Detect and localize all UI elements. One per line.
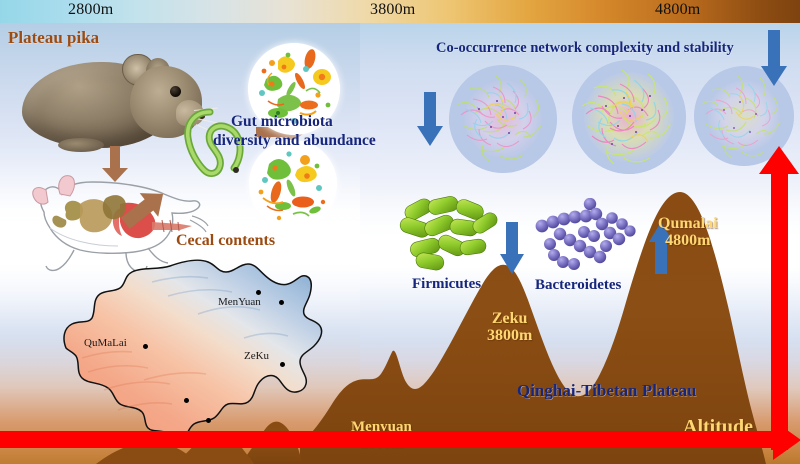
firmicutes-label: Firmicutes xyxy=(412,276,481,293)
altitude-axis-horizontal-arrow xyxy=(0,431,775,448)
network-circle-1 xyxy=(449,65,557,173)
map-dot-qumalai xyxy=(143,344,148,349)
network-circle-2 xyxy=(572,60,686,174)
gut-microbiota-label-line1: Gut microbiota xyxy=(231,113,333,131)
network-graph-icon xyxy=(449,65,557,173)
plateau-name-label: Qinghai-Tibetan Plateau xyxy=(517,381,697,401)
pika-eye xyxy=(170,86,181,97)
map-shape xyxy=(48,252,348,448)
gut-microbiota-circle-bottom xyxy=(249,140,337,228)
peak-elev-qumalai: 4800m xyxy=(665,232,710,249)
co-occurrence-title: Co-occurrence network complexity and sta… xyxy=(436,40,734,57)
map-label-zeku: ZeKu xyxy=(244,350,269,362)
peak-label-zeku: Zeku 3800m xyxy=(487,311,532,345)
microbe-cluster-icon xyxy=(249,140,337,228)
map-dot-south-1 xyxy=(184,398,189,403)
map-dot-menyuan-north xyxy=(256,290,261,295)
arrow-anatomy-to-cecum-icon xyxy=(118,186,172,230)
bacteroidetes-label: Bacteroidetes xyxy=(535,277,621,294)
peak-label-qumalai: Qumalai 4800m xyxy=(658,216,718,250)
peak-name-zeku: Zeku xyxy=(492,310,528,327)
peak-elev-zeku: 3800m xyxy=(487,327,532,344)
qinghai-province-map: QuMaLai MenYuan ZeKu xyxy=(48,252,348,448)
cecal-contents-label: Cecal contents xyxy=(176,232,275,250)
altitude-axis-vertical-arrow xyxy=(771,172,788,450)
pika-foot xyxy=(58,138,104,152)
gut-microbiota-label-line2: diversity and abundance xyxy=(213,132,376,150)
graphical-abstract: 2800m 3800m 4800m Plateau pika xyxy=(0,0,800,464)
arrow-network-decrease-icon xyxy=(760,30,788,86)
arrow-firmicutes-decrease-icon xyxy=(499,222,525,274)
arrow-gut-microbiota-decrease-icon xyxy=(416,92,444,146)
map-label-menyuan: MenYuan xyxy=(218,296,261,308)
peak-name-qumalai: Qumalai xyxy=(658,215,718,232)
bacteroidetes-cluster-icon xyxy=(530,198,638,276)
map-dot-menyuan xyxy=(279,300,284,305)
map-dot-south-2 xyxy=(206,418,211,423)
map-dot-zeku xyxy=(280,362,285,367)
network-graph-icon xyxy=(572,60,686,174)
map-label-qumalai: QuMaLai xyxy=(84,337,127,349)
firmicutes-cluster-icon xyxy=(398,196,502,274)
